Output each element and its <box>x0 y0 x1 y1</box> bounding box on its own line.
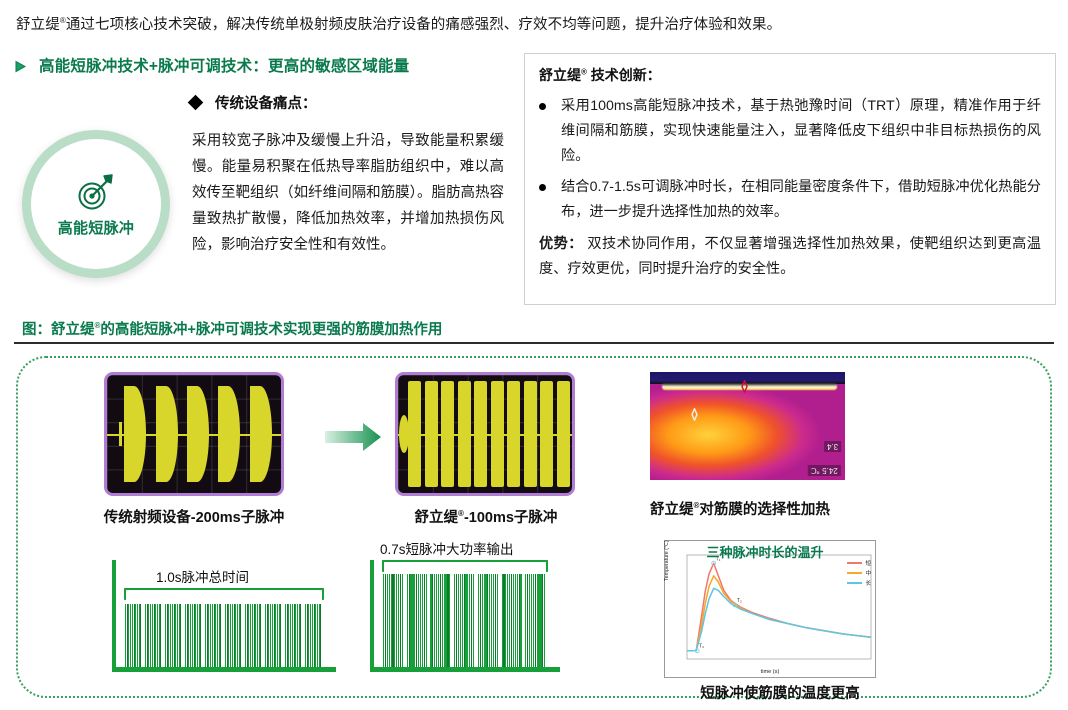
chart-legend-label: 长 <box>865 579 871 587</box>
temperature-rise-chart: 三种脉冲时长的温升 Temperature (℃) time (s) T₀T₁T… <box>664 540 876 678</box>
train-bar <box>200 604 201 667</box>
train-y-axis <box>370 560 374 672</box>
slide-page: 舒立缇®通过七项核心技术突破，解决传统单极射频皮肤治疗设备的痛感强烈、疗效不均等… <box>0 0 1068 710</box>
train-bar <box>160 604 161 667</box>
train-bar <box>473 574 474 667</box>
left-column: 传统设备痛点： 高能短脉冲 采用较宽子脉冲及缓慢上升沿，导致能量积累缓慢。能量易… <box>0 84 516 314</box>
train-bar <box>426 574 427 667</box>
innovation-title-brand: 舒立缇 <box>539 67 581 83</box>
innovation-panel-title: 舒立缇® 技术创新： <box>539 65 1041 85</box>
right-arrow-icon <box>323 420 383 454</box>
train-bracket <box>124 588 324 600</box>
chart-annotation-label: T₂ <box>737 598 742 604</box>
figure-caption-a: 图：舒立缇 <box>22 322 95 338</box>
train-bar <box>449 574 450 667</box>
train-bracket <box>382 560 548 572</box>
thermal-caption-rest: 对筋膜的选择性加热 <box>699 502 830 518</box>
pain-point-paragraph: 采用较宽子脉冲及缓慢上升沿，导致能量积累缓慢。能量易积聚在低热导率脂肪组织中，难… <box>192 128 504 258</box>
train-bar <box>544 574 545 667</box>
section-heading: 高能短脉冲技术+脉冲可调技术：更高的敏感区域能量 <box>14 54 409 76</box>
train-bar <box>240 604 241 667</box>
diamond-marker-red-icon <box>738 380 751 393</box>
chart-axes-box <box>687 555 871 659</box>
chart-annotation-label: T₀ <box>699 644 704 650</box>
train-bracket-label: 1.0s脉冲总时间 <box>156 566 249 586</box>
arrow-triangle-icon <box>14 60 27 73</box>
train-bar <box>220 604 221 667</box>
train-bar <box>320 604 321 667</box>
scope-caption-brand: 舒立缇 <box>415 510 459 526</box>
figure-panel: 传统射频设备-200ms子脉冲 舒立缇®-100ms子脉冲 1.0s脉冲总时间 <box>16 356 1052 698</box>
oscilloscope-shulitty-caption: 舒立缇®-100ms子脉冲 <box>370 506 602 527</box>
pulse-train-shulitty: 0.7s短脉冲大功率输出 <box>364 536 604 682</box>
chart-legend-swatch <box>847 572 862 574</box>
figure-caption-b: 的高能短脉冲+脉冲可调技术实现更强的筋膜加热作用 <box>100 322 442 338</box>
innovation-bullet-list: 采用100ms高能短脉冲技术，基于热弛豫时间（TRT）原理，精准作用于纤维间隔和… <box>539 94 1041 225</box>
train-bar <box>140 604 141 667</box>
chart-ylabel: Temperature (℃) <box>664 540 670 581</box>
scope-midline <box>107 434 281 436</box>
pain-point-subhead: 传统设备痛点： <box>190 92 317 113</box>
oscilloscope-shulitty <box>395 372 575 496</box>
pulse-train-traditional: 1.0s脉冲总时间 <box>106 554 346 682</box>
train-y-axis <box>112 560 116 672</box>
diamond-bullet-icon <box>188 95 204 111</box>
train-bar <box>300 604 301 667</box>
oscilloscope-traditional-caption: 传统射频设备-200ms子脉冲 <box>74 506 314 527</box>
thermal-caption-brand: 舒立缇 <box>650 502 694 518</box>
chart-plot-area: T₀T₁T₂ <box>665 541 877 679</box>
train-bar <box>402 574 403 667</box>
target-arrow-icon <box>73 171 119 213</box>
feature-badge: 高能短脉冲 <box>22 130 170 278</box>
oscilloscope-traditional <box>104 372 284 496</box>
innovation-bullet-text: 结合0.7-1.5s可调脉冲时长，在相同能量密度条件下，借助短脉冲优化热能分布，… <box>561 175 1041 225</box>
chart-legend-label: 短 <box>865 559 871 567</box>
chart-legend-item: 长 <box>847 579 871 587</box>
train-bar <box>520 574 521 667</box>
innovation-bullet-text: 采用100ms高能短脉冲技术，基于热弛豫时间（TRT）原理，精准作用于纤维间隔和… <box>561 94 1041 169</box>
innovation-panel: 舒立缇® 技术创新： 采用100ms高能短脉冲技术，基于热弛豫时间（TRT）原理… <box>524 53 1056 305</box>
pain-point-subhead-label: 传统设备痛点： <box>215 92 317 113</box>
chart-title: 三种脉冲时长的温升 <box>677 542 853 561</box>
thermal-image: 3.4 24.5 ℃ <box>650 372 845 480</box>
thermal-overlay-temp: 24.5 ℃ <box>808 465 841 476</box>
intro-text: 舒立缇®通过七项核心技术突破，解决传统单极射频皮肤治疗设备的痛感强烈、疗效不均等… <box>16 10 1052 36</box>
section-heading-label: 高能短脉冲技术+脉冲可调技术：更高的敏感区域能量 <box>39 54 409 76</box>
advantage-text: 双技术协同作用，不仅显著增强选择性加热效果，使靶组织达到更高温度、疗效更优，同时… <box>539 236 1041 277</box>
thermal-overlay-value: 3.4 <box>824 441 841 452</box>
chart-series-长 <box>687 588 871 650</box>
chart-legend: 短中长 <box>847 559 871 589</box>
train-x-axis <box>112 667 336 672</box>
advantage-paragraph: 优势： 双技术协同作用，不仅显著增强选择性加热效果，使靶组织达到更高温度、疗效更… <box>539 232 1041 282</box>
scope-caption-rest: -100ms子脉冲 <box>464 510 557 526</box>
advantage-label: 优势： <box>539 236 583 252</box>
figure-caption: 图：舒立缇®的高能短脉冲+脉冲可调技术实现更强的筋膜加热作用 <box>22 318 442 339</box>
list-item: 采用100ms高能短脉冲技术，基于热弛豫时间（TRT）原理，精准作用于纤维间隔和… <box>539 94 1041 169</box>
chart-legend-swatch <box>847 582 862 584</box>
train-bars <box>382 574 548 667</box>
chart-legend-swatch <box>847 562 862 564</box>
figure-divider <box>14 342 1054 344</box>
temperature-chart-caption: 短脉冲使筋膜的温度更高 <box>660 682 900 703</box>
scope-midline <box>398 434 572 436</box>
list-item: 结合0.7-1.5s可调脉冲时长，在相同能量密度条件下，借助短脉冲优化热能分布，… <box>539 175 1041 225</box>
intro-brand: 舒立缇 <box>16 17 60 33</box>
train-bar <box>260 604 261 667</box>
train-bars <box>124 604 324 667</box>
chart-legend-item: 短 <box>847 559 871 567</box>
chart-xlabel: time (s) <box>665 669 875 675</box>
chart-legend-item: 中 <box>847 569 871 577</box>
train-bar <box>180 604 181 667</box>
intro-body: 通过七项核心技术突破，解决传统单极射频皮肤治疗设备的痛感强烈、疗效不均等问题，提… <box>66 17 781 33</box>
chart-series-中 <box>687 576 871 651</box>
train-x-axis <box>370 667 560 672</box>
train-bar <box>280 604 281 667</box>
train-bar <box>497 574 498 667</box>
feature-badge-label: 高能短脉冲 <box>58 217 135 238</box>
round-bullet-icon <box>539 94 561 169</box>
train-bracket-label: 0.7s短脉冲大功率输出 <box>380 538 514 558</box>
innovation-title-rest: 技术创新： <box>587 67 661 83</box>
round-bullet-icon <box>539 175 561 225</box>
chart-legend-label: 中 <box>865 569 871 577</box>
diamond-marker-white-icon <box>688 408 701 421</box>
thermal-image-caption: 舒立缇®对筋膜的选择性加热 <box>650 498 880 519</box>
